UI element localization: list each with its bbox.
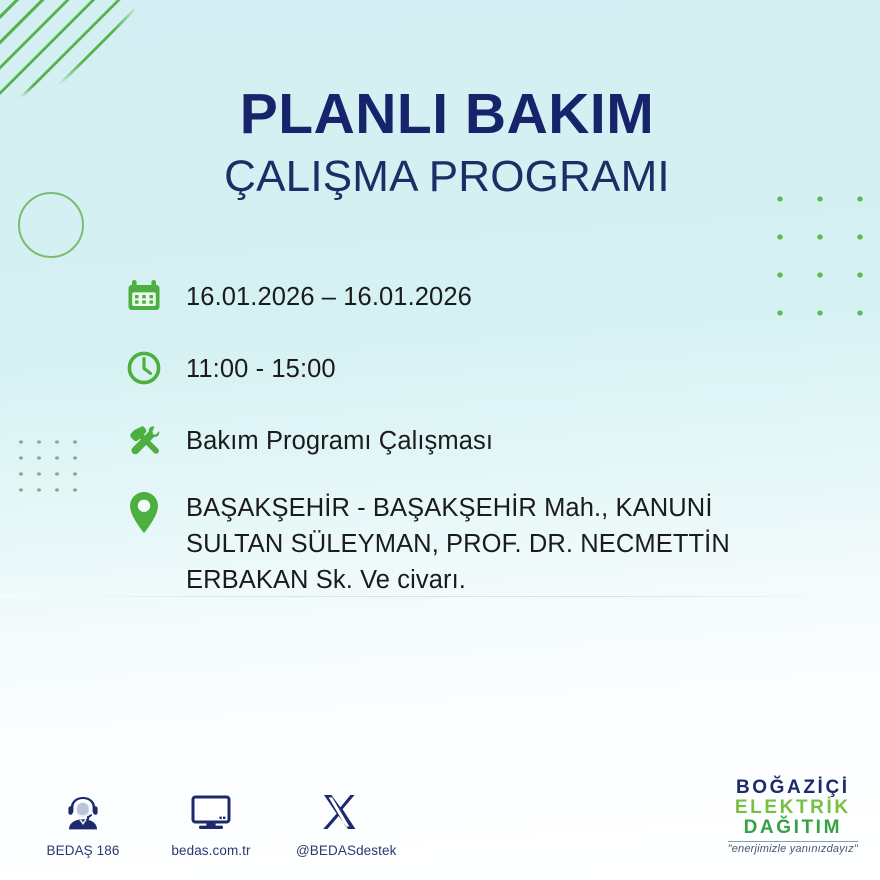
date-range-text: 16.01.2026 – 16.01.2026 — [168, 272, 472, 315]
time-range-text: 11:00 - 15:00 — [168, 344, 336, 387]
detail-row-location: BAŞAKŞEHİR - BAŞAKŞEHİR Mah., KANUNİ SUL… — [120, 488, 800, 599]
brand-line-3: DAĞITIM — [728, 818, 858, 838]
footer-phone-label: BEDAŞ 186 — [40, 843, 126, 858]
clock-icon — [120, 344, 168, 392]
page-title: PLANLI BAKIM — [0, 86, 880, 143]
poster-heading: PLANLI BAKIM ÇALIŞMA PROGRAMI — [0, 86, 880, 199]
map-pin-icon — [120, 488, 168, 538]
brand-tagline: "enerjimizle yanınızdayız" — [728, 844, 858, 856]
maintenance-details: 16.01.2026 – 16.01.2026 11:00 - 15:00 — [120, 272, 800, 599]
footer-social-label: @BEDASdestek — [296, 843, 382, 858]
detail-row-date: 16.01.2026 – 16.01.2026 — [120, 272, 800, 320]
footer-item-social[interactable]: @BEDASdestek — [296, 787, 382, 858]
brand-line-1: BOĞAZİÇİ — [728, 778, 858, 798]
planned-maintenance-poster: PLANLI BAKIM ÇALIŞMA PROGRAMI — [0, 0, 880, 880]
dot-grid-left-decoration — [10, 432, 80, 494]
brand-line-2: ELEKTRİK — [728, 798, 858, 818]
footer-website-label: bedas.com.tr — [168, 843, 254, 858]
detail-row-time: 11:00 - 15:00 — [120, 344, 800, 392]
brand-logo: BOĞAZİÇİ ELEKTRİK DAĞITIM "enerjimizle y… — [728, 778, 858, 856]
circle-outline-decoration — [18, 192, 84, 258]
tools-icon — [120, 416, 168, 464]
footer-item-website[interactable]: bedas.com.tr — [168, 787, 254, 858]
page-subtitle: ÇALIŞMA PROGRAMI — [0, 155, 880, 199]
support-agent-icon — [40, 787, 126, 835]
detail-row-worktype: Bakım Programı Çalışması — [120, 416, 800, 464]
x-social-icon — [296, 787, 382, 835]
footer-item-phone[interactable]: BEDAŞ 186 — [40, 787, 126, 858]
work-type-text: Bakım Programı Çalışması — [168, 416, 493, 459]
brand-rule — [728, 841, 858, 842]
monitor-icon — [168, 787, 254, 835]
calendar-icon — [120, 272, 168, 320]
footer-contact-bar: BEDAŞ 186 bedas.com.tr — [40, 787, 382, 858]
location-text: BAŞAKŞEHİR - BAŞAKŞEHİR Mah., KANUNİ SUL… — [168, 488, 800, 599]
